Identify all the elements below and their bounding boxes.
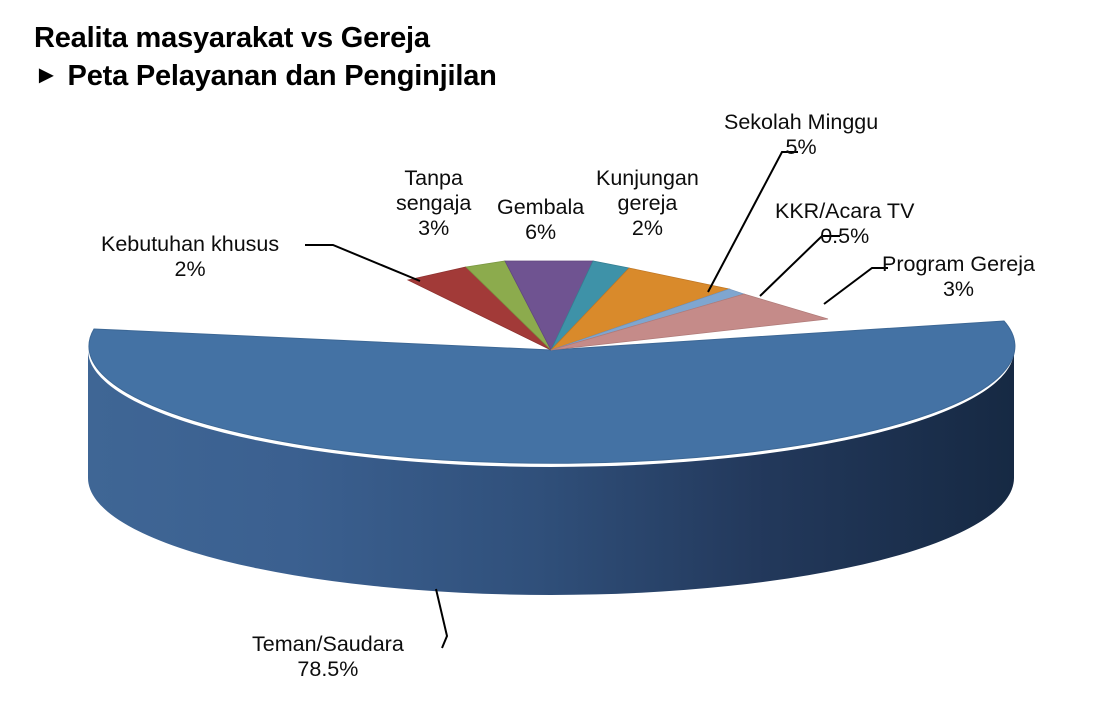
label-kunjungan-gereja-value: 2% bbox=[596, 216, 699, 241]
label-teman-saudara-value: 78.5% bbox=[252, 657, 404, 682]
pie-top-face bbox=[89, 261, 1015, 463]
pie-chart-3d bbox=[0, 0, 1100, 720]
leader-line-kebutuhan-khusus bbox=[305, 245, 420, 281]
label-sekolah-minggu: Sekolah Minggu 5% bbox=[724, 110, 878, 160]
label-kunjungan-gereja: Kunjungan gereja 2% bbox=[596, 166, 699, 241]
label-kebutuhan-khusus-value: 2% bbox=[101, 257, 279, 282]
slide-canvas: Realita masyarakat vs Gereja ►Peta Pelay… bbox=[0, 0, 1100, 720]
label-kunjungan-gereja-name-2: gereja bbox=[596, 191, 699, 216]
label-teman-saudara: Teman/Saudara 78.5% bbox=[252, 632, 404, 682]
label-kkr-acara-tv-name: KKR/Acara TV bbox=[775, 199, 914, 224]
label-kunjungan-gereja-name-1: Kunjungan bbox=[596, 166, 699, 191]
label-tanpa-sengaja: Tanpa sengaja 3% bbox=[396, 166, 471, 241]
label-gembala: Gembala 6% bbox=[497, 195, 584, 245]
label-gembala-name: Gembala bbox=[497, 195, 584, 220]
label-tanpa-sengaja-name-2: sengaja bbox=[396, 191, 471, 216]
label-gembala-value: 6% bbox=[497, 220, 584, 245]
label-teman-saudara-name: Teman/Saudara bbox=[252, 632, 404, 657]
label-tanpa-sengaja-value: 3% bbox=[396, 216, 471, 241]
label-tanpa-sengaja-name-1: Tanpa bbox=[396, 166, 471, 191]
leader-line-teman-saudara bbox=[436, 589, 447, 648]
label-program-gereja-name: Program Gereja bbox=[882, 252, 1035, 277]
label-kkr-acara-tv: KKR/Acara TV 0.5% bbox=[775, 199, 914, 249]
label-kkr-acara-tv-value: 0.5% bbox=[775, 224, 914, 249]
label-kebutuhan-khusus: Kebutuhan khusus 2% bbox=[101, 232, 279, 282]
leader-line-program-gereja bbox=[824, 268, 888, 304]
label-sekolah-minggu-name: Sekolah Minggu bbox=[724, 110, 878, 135]
label-kebutuhan-khusus-name: Kebutuhan khusus bbox=[101, 232, 279, 257]
label-program-gereja-value: 3% bbox=[882, 277, 1035, 302]
label-program-gereja: Program Gereja 3% bbox=[882, 252, 1035, 302]
label-sekolah-minggu-value: 5% bbox=[724, 135, 878, 160]
